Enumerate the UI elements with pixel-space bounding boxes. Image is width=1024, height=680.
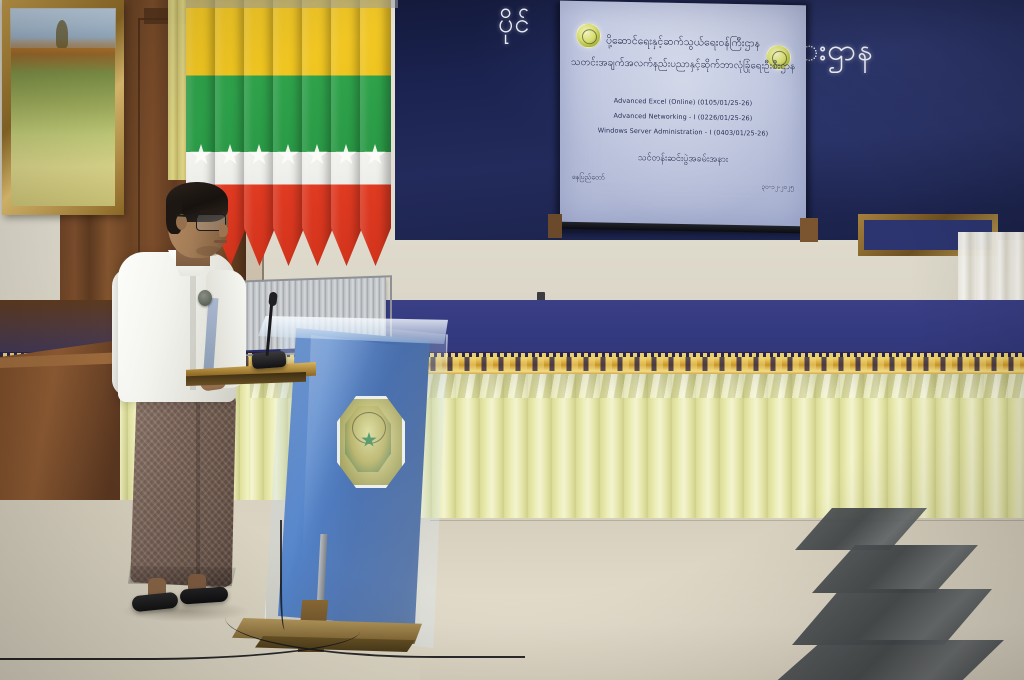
- flag-star-icon: [335, 144, 357, 166]
- flag-star-icon: [277, 144, 299, 166]
- longyi-hem: [128, 566, 236, 586]
- photograph-scene: ပိုင် းဌာန ပို့ဆောင်ရေးနှင့်ဆက်သွယ်ရေးဝန…: [0, 0, 1024, 680]
- microphone-base: [251, 351, 286, 369]
- flag-star-icon: [364, 144, 386, 166]
- longyi-fold: [196, 400, 200, 580]
- myanmar-flag: [360, 0, 391, 266]
- painting-tree-detail: [56, 20, 68, 48]
- myanmar-flag: [273, 0, 304, 266]
- screen-bracket-right: [800, 218, 818, 242]
- flag-star-icon: [219, 144, 241, 166]
- flag-star-icon: [248, 144, 270, 166]
- myanmar-flag: [331, 0, 362, 266]
- speaker-mouth: [214, 240, 227, 243]
- myanmar-flag: [244, 0, 275, 266]
- speaker-chin-shadow: [196, 246, 222, 256]
- projection-screen: ပို့ဆောင်ရေးနှင့်ဆက်သွယ်ရေးဝန်ကြီးဌာန သတ…: [560, 1, 806, 228]
- flag-star-icon: [306, 144, 328, 166]
- flag-star-icon: [190, 144, 212, 166]
- speaker-eyebrow: [200, 210, 222, 213]
- slide-date-line: ၃၀-၁၂-၂၀၂၅: [708, 181, 794, 193]
- speaker-longyi: [128, 392, 236, 588]
- floor-seam: [430, 520, 1024, 521]
- screen-bracket-left: [548, 214, 562, 238]
- chest-badge: [198, 290, 212, 306]
- banner-text-right: းဌာန: [800, 28, 920, 78]
- flag-rail-bar: [186, 0, 398, 8]
- myanmar-flag: [302, 0, 333, 266]
- slide-place-line: နေပြည်တော်: [572, 173, 605, 184]
- speaker-nose: [219, 224, 228, 237]
- podium-cable: [280, 520, 292, 630]
